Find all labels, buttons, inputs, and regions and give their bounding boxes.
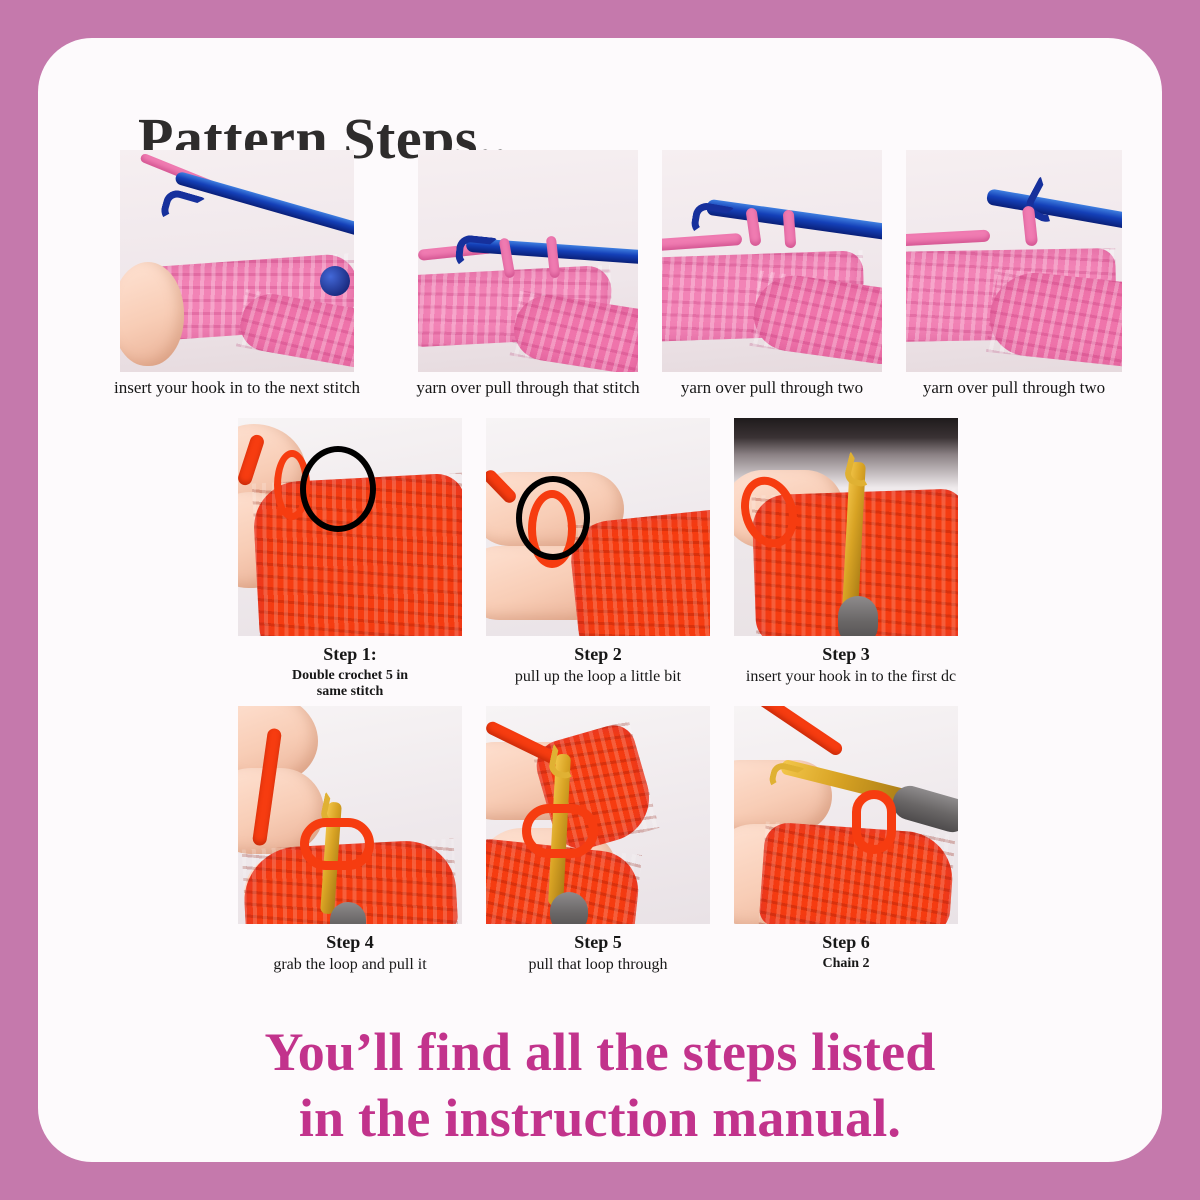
- step-6-sub-caption: Chain 2: [734, 956, 958, 972]
- tutorial-cell-photo-2: yarn over pull through that stitch: [418, 150, 642, 420]
- tutorial-cell-photo-3: yarn over pull through two: [662, 150, 886, 420]
- hook-handle: [838, 596, 878, 636]
- tutorial-photo-3: [662, 150, 882, 372]
- tutorial-photo-step-6: [734, 706, 958, 924]
- photo-1-caption: insert your hook in to the next stitch: [75, 378, 399, 397]
- tutorial-cell-photo-4: yarn over pull through two: [906, 150, 1126, 420]
- chain-loop: [852, 790, 896, 854]
- step-3-sub-caption: insert your hook in to the first dc: [710, 668, 992, 686]
- step-5-sub-caption: pull that loop through: [472, 956, 724, 974]
- step-1-sub-caption: Double crochet 5 in same stitch: [238, 668, 462, 699]
- content-card: Pattern Steps.. insert your hook in to t…: [38, 38, 1162, 1162]
- annotation-circle: [516, 476, 590, 560]
- pulled-loop: [522, 804, 598, 858]
- photo-2-caption: yarn over pull through that stitch: [376, 378, 680, 397]
- tutorial-cell-photo-1: insert your hook in to the next stitch: [120, 150, 360, 420]
- grabbed-loop: [300, 818, 374, 870]
- step-3-label: Step 3: [734, 644, 958, 664]
- step-4-label: Step 4: [238, 932, 462, 952]
- step-2-label: Step 2: [486, 644, 710, 664]
- tutorial-cell-step-4: Step 4 grab the loop and pull it: [238, 706, 466, 968]
- hook-tip-icon: [454, 234, 497, 272]
- step-6-label: Step 6: [734, 932, 958, 952]
- crochet-fabric-lower: [986, 268, 1122, 367]
- tutorial-cell-step-5: Step 5 pull that loop through: [486, 706, 714, 968]
- tutorial-cell-step-2: Step 2 pull up the loop a little bit: [486, 418, 714, 688]
- tutorial-photo-4: [906, 150, 1122, 372]
- tutorial-photo-step-1: [238, 418, 462, 636]
- tutorial-photo-step-3: [734, 418, 958, 636]
- step-2-sub-caption: pull up the loop a little bit: [470, 668, 726, 686]
- tutorial-photo-step-5: [486, 706, 710, 924]
- hook-knob: [320, 266, 350, 296]
- tutorial-cell-step-3: Step 3 insert your hook in to the first …: [734, 418, 962, 688]
- page-frame: Pattern Steps.. insert your hook in to t…: [0, 0, 1200, 1200]
- footer-line-1: You’ll find all the steps listed: [38, 1020, 1162, 1086]
- photo-3-caption: yarn over pull through two: [640, 378, 904, 397]
- step-4-sub-caption: grab the loop and pull it: [220, 956, 480, 974]
- tutorial-cell-step-1: Step 1: Double crochet 5 in same stitch: [238, 418, 466, 688]
- tutorial-photo-1: [120, 150, 354, 372]
- tutorial-cell-step-6: Step 6 Chain 2: [734, 706, 962, 968]
- step-1-label: Step 1:: [238, 644, 462, 664]
- hook-handle: [550, 892, 588, 924]
- tutorial-photo-2: [418, 150, 638, 372]
- tutorial-photo-step-4: [238, 706, 462, 924]
- step-5-label: Step 5: [486, 932, 710, 952]
- photo-4-caption: yarn over pull through two: [882, 378, 1146, 397]
- annotation-circle: [300, 446, 376, 532]
- footer-line-2: in the instruction manual.: [38, 1086, 1162, 1152]
- tutorial-photo-step-2: [486, 418, 710, 636]
